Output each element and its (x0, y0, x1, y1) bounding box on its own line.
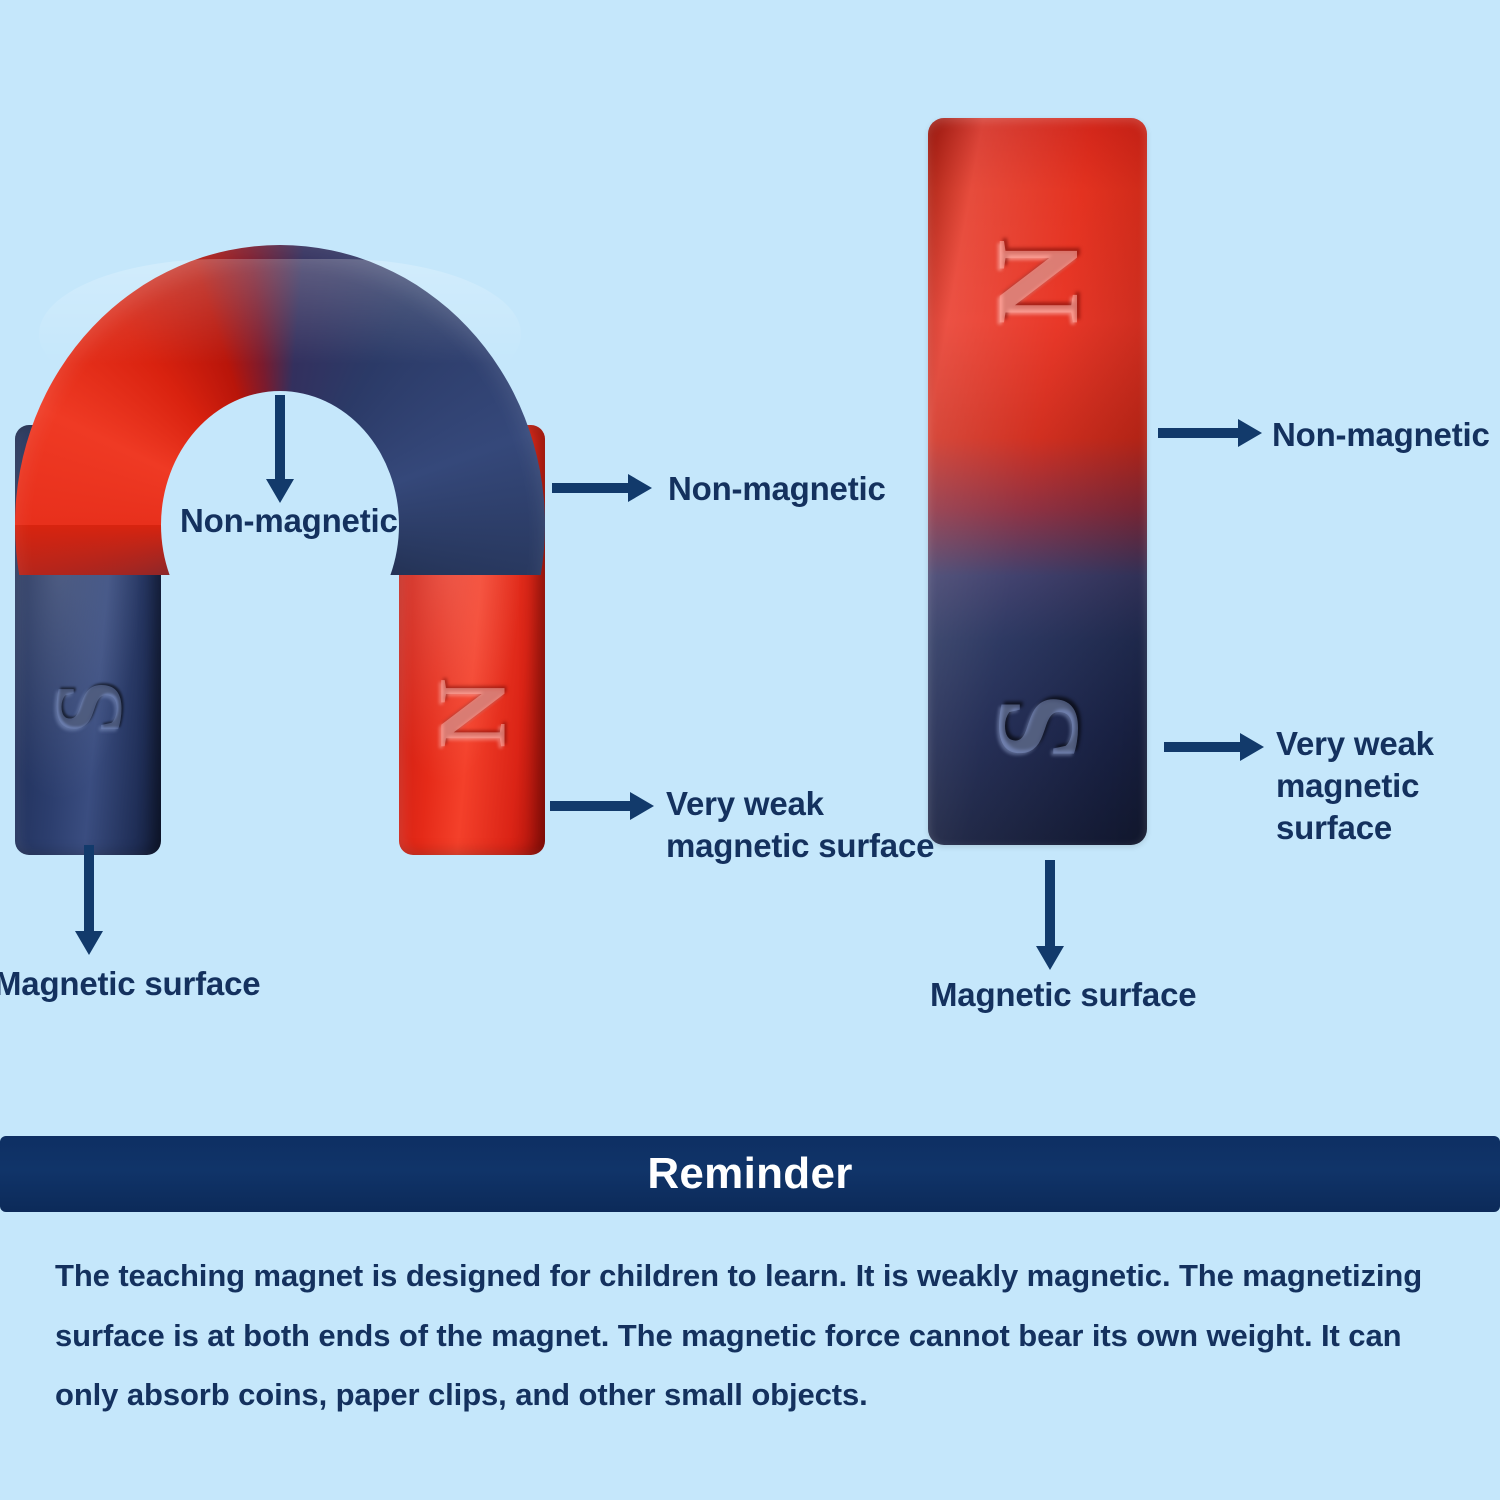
infographic-canvas: S N N S Non-magnetic Non-magnetic Very w… (0, 0, 1500, 1500)
label-bar-nonmagnetic: Non-magnetic (1272, 414, 1490, 456)
arrow-down-bar-magnetic-surface (1027, 860, 1073, 970)
arrow-down-horseshoe-magnetic-surface (66, 845, 112, 955)
arrow-right-horseshoe-nonmagnetic (552, 468, 652, 508)
arrow-shaft (275, 395, 285, 483)
bar-north-pole-letter: N (970, 207, 1106, 357)
horseshoe-north-pole-letter: N (417, 654, 528, 774)
arrow-head (630, 792, 654, 820)
reminder-body-text: The teaching magnet is designed for chil… (55, 1246, 1455, 1425)
arrow-right-bar-nonmagnetic (1158, 413, 1262, 453)
label-horseshoe-side-nonmagnetic: Non-magnetic (668, 468, 886, 510)
label-horseshoe-top-nonmagnetic: Non-magnetic (180, 500, 398, 542)
bar-south-pole-letter: S (970, 652, 1106, 802)
label-bar-veryweak: Very weak magnetic surface (1276, 723, 1500, 850)
horseshoe-south-pole-letter: S (33, 648, 144, 768)
reminder-banner: Reminder (0, 1136, 1500, 1212)
label-bar-magnetic-surface: Magnetic surface (930, 974, 1196, 1016)
arrow-down-horseshoe-nonmagnetic (257, 395, 303, 503)
arrow-head (1240, 733, 1264, 761)
arrow-right-bar-veryweak (1164, 727, 1264, 767)
arrow-right-horseshoe-veryweak (550, 786, 654, 826)
label-horseshoe-veryweak: Very weak magnetic surface (666, 783, 934, 867)
arrow-shaft (1158, 428, 1242, 438)
arrow-head (75, 931, 103, 955)
arrow-head (1238, 419, 1262, 447)
arrow-shaft (1045, 860, 1055, 950)
horseshoe-magnet: S N (15, 245, 545, 855)
reminder-title: Reminder (647, 1149, 852, 1199)
bar-magnet: N S (928, 118, 1147, 845)
arrow-shaft (552, 483, 632, 493)
arrow-shaft (550, 801, 634, 811)
arrow-head (1036, 946, 1064, 970)
arrow-head (628, 474, 652, 502)
label-horseshoe-magnetic-surface: Magnetic surface (0, 963, 260, 1005)
arrow-shaft (84, 845, 94, 935)
arrow-shaft (1164, 742, 1244, 752)
